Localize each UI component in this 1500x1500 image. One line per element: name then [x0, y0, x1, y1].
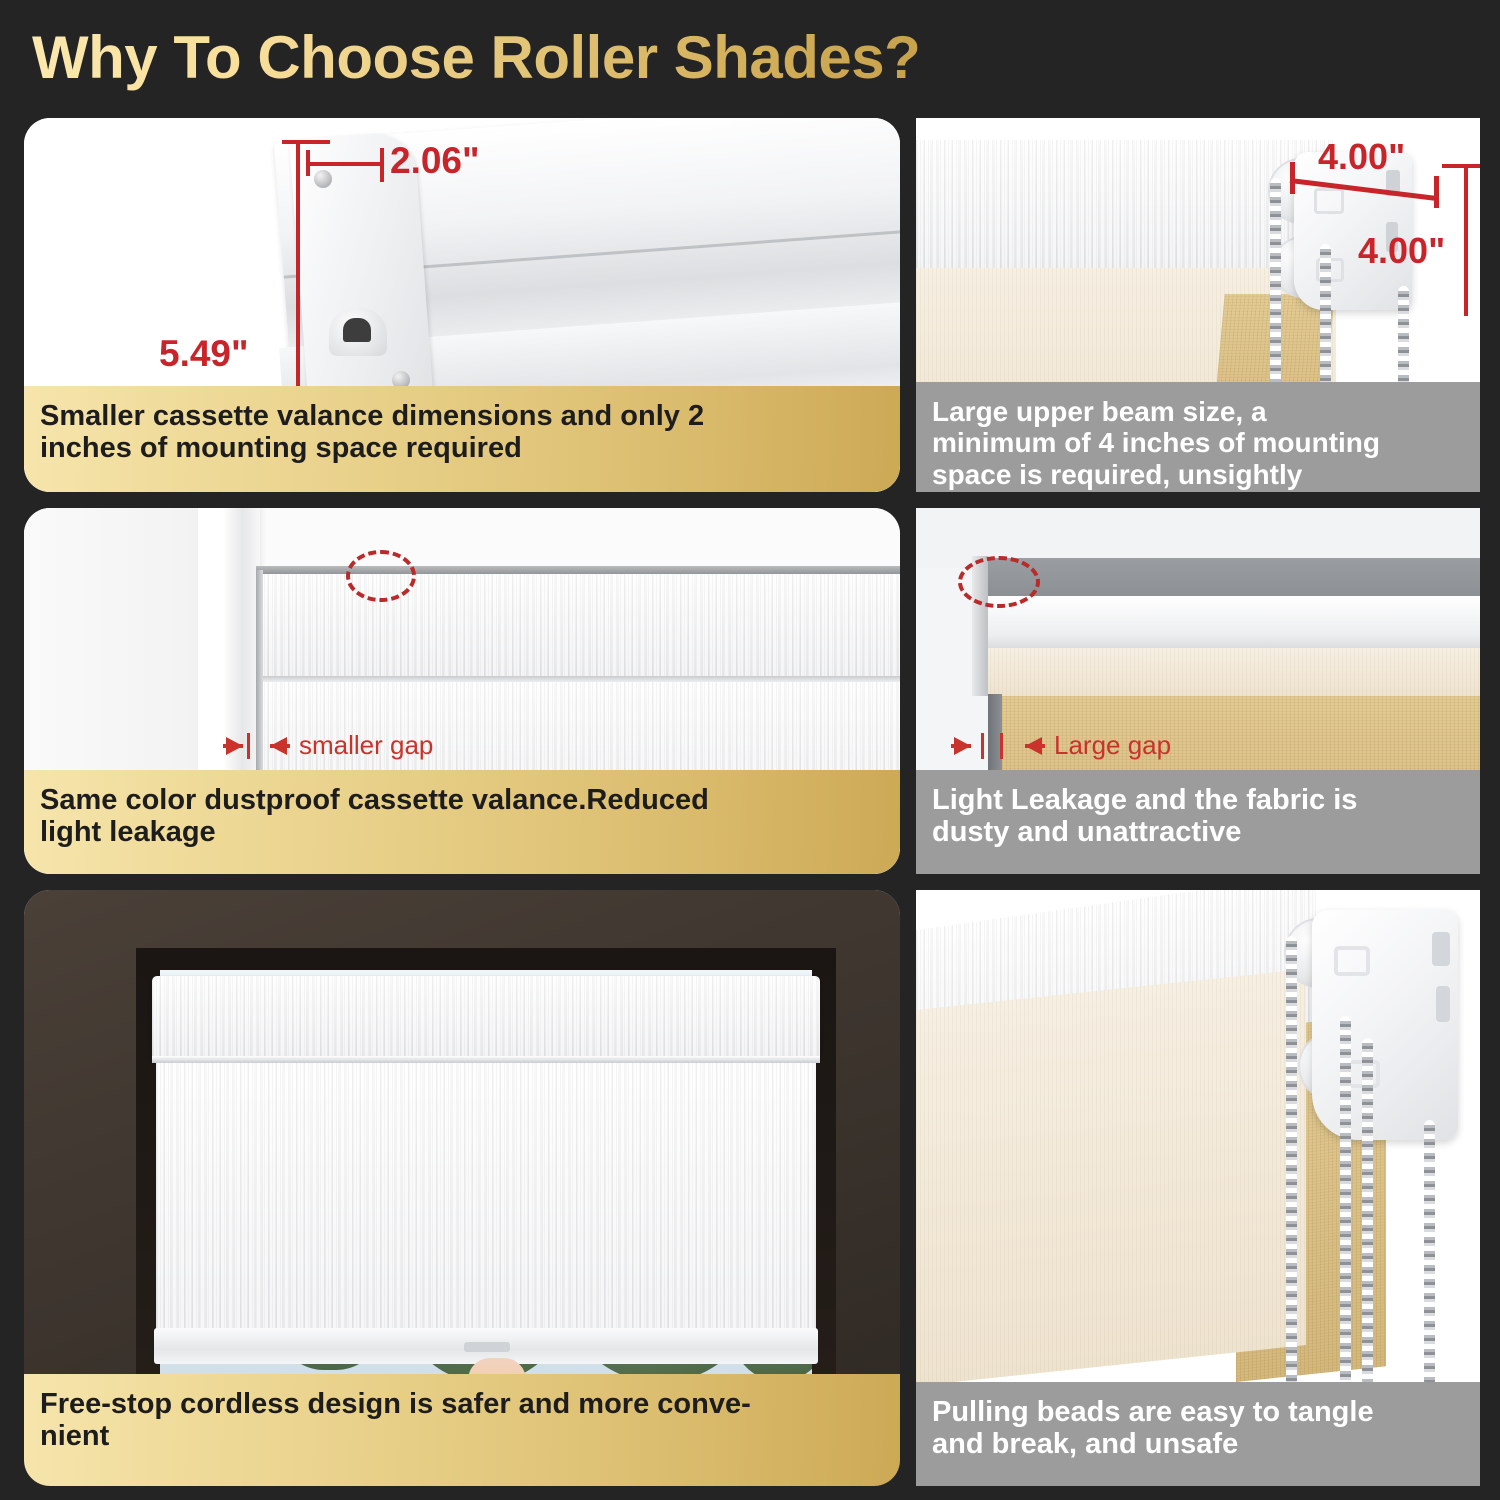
height-dim-tick-top [1442, 164, 1480, 168]
shade-fabric-cream-face [916, 969, 1306, 1386]
caption-con-large-gap: Light Leakage and the fabric is dusty an… [916, 770, 1480, 874]
caption-con-beam-size: Large upper beam size, a minimum of 4 in… [916, 382, 1480, 492]
bead-chain [1286, 936, 1297, 1386]
caption-line: Large upper beam size, a [932, 396, 1464, 427]
height-dim-line [1464, 166, 1468, 316]
page-title-text: Why To Choose Roller Shades? [32, 22, 1052, 94]
window-trim [198, 508, 260, 808]
caption-line: Free-stop cordless design is safer and m… [40, 1388, 884, 1420]
bracket-emboss-icon [1314, 188, 1344, 214]
gap-tick [247, 733, 250, 759]
gap-callout-smaller: smaller gap [226, 730, 433, 761]
bead-chain [1340, 1016, 1351, 1386]
panel-con-pull-beads: Pulling beads are easy to tangle and bre… [916, 890, 1480, 1486]
arrow-right-icon [226, 737, 243, 755]
panel-pro-smaller-gap: smaller gap Same color dustproof cassett… [24, 508, 900, 874]
height-dimension-label: 4.00" [1358, 230, 1445, 272]
screw-icon [314, 170, 332, 188]
bracket-emboss-icon [1334, 946, 1370, 976]
caption-line: space is required, unsightly [932, 459, 1464, 490]
cassette-valance [152, 976, 820, 1058]
bead-chain [1362, 1038, 1373, 1386]
caption-line: light leakage [40, 816, 884, 848]
width-dim-tick-right [1434, 176, 1439, 208]
arrow-right-icon [954, 737, 971, 755]
caption-line: Same color dustproof cassette valance.Re… [40, 784, 884, 816]
width-dimension-label: 2.06" [390, 140, 480, 182]
caption-con-pull-beads: Pulling beads are easy to tangle and bre… [916, 1382, 1480, 1486]
caption-line: nient [40, 1420, 884, 1452]
panel-con-large-gap: Large gap Light Leakage and the fabric i… [916, 508, 1480, 874]
bead-chain [1424, 1120, 1435, 1386]
gap-tick [981, 733, 984, 759]
gap-tick [1000, 733, 1003, 759]
caption-line: dusty and unattractive [932, 816, 1464, 848]
detail-highlight-circle [346, 550, 416, 602]
gap-callout-label: smaller gap [299, 730, 433, 761]
upper-beam-dark [976, 558, 1480, 598]
page-title: Why To Choose Roller Shades? [32, 22, 1052, 94]
panel-con-beam-size: 4.00" 4.00" Large upper beam size, a min… [916, 118, 1480, 492]
caption-line: Smaller cassette valance dimensions and … [40, 400, 884, 432]
caption-line: Light Leakage and the fabric is [932, 784, 1464, 816]
gap-callout-large: Large gap [954, 730, 1171, 761]
arrow-left-icon [1025, 737, 1042, 755]
bottom-rail-grip [464, 1342, 510, 1352]
panel-pro-valance-size: 2.06" 5.49" Smaller cassette valance dim… [24, 118, 900, 492]
valance-roller-socket [329, 308, 387, 356]
height-dim-tick-top [282, 140, 330, 144]
width-dim-tick-left [1290, 162, 1295, 194]
caption-pro-valance-size: Smaller cassette valance dimensions and … [24, 386, 900, 492]
infographic-page: Why To Choose Roller Shades? 2.06" [0, 0, 1500, 1500]
width-dim-line [306, 162, 384, 166]
bracket-slot [1436, 986, 1450, 1022]
valance-seam [152, 1056, 820, 1063]
arrow-left-icon [270, 737, 287, 755]
comparison-grid: 2.06" 5.49" Smaller cassette valance dim… [24, 118, 1480, 1486]
caption-line: inches of mounting space required [40, 432, 884, 464]
caption-line: minimum of 4 inches of mounting [932, 427, 1464, 458]
gap-callout-label: Large gap [1054, 730, 1171, 761]
upper-beam-light [976, 596, 1480, 652]
width-dim-tick-right [380, 148, 384, 182]
bracket-slot [1432, 932, 1450, 966]
width-dim-tick-left [306, 150, 310, 176]
detail-highlight-circle [958, 556, 1040, 608]
valance-face [978, 648, 1480, 696]
caption-pro-smaller-gap: Same color dustproof cassette valance.Re… [24, 770, 900, 874]
caption-pro-cordless: Free-stop cordless design is safer and m… [24, 1374, 900, 1486]
shade-fabric-main [156, 1063, 816, 1361]
height-dimension-label: 5.49" [159, 333, 249, 375]
caption-line: and break, and unsafe [932, 1428, 1464, 1460]
window-jamb [24, 508, 204, 808]
panel-pro-cordless: Free-stop cordless design is safer and m… [24, 890, 900, 1486]
caption-line: Pulling beads are easy to tangle [932, 1396, 1464, 1428]
width-dimension-label: 4.00" [1318, 136, 1405, 178]
